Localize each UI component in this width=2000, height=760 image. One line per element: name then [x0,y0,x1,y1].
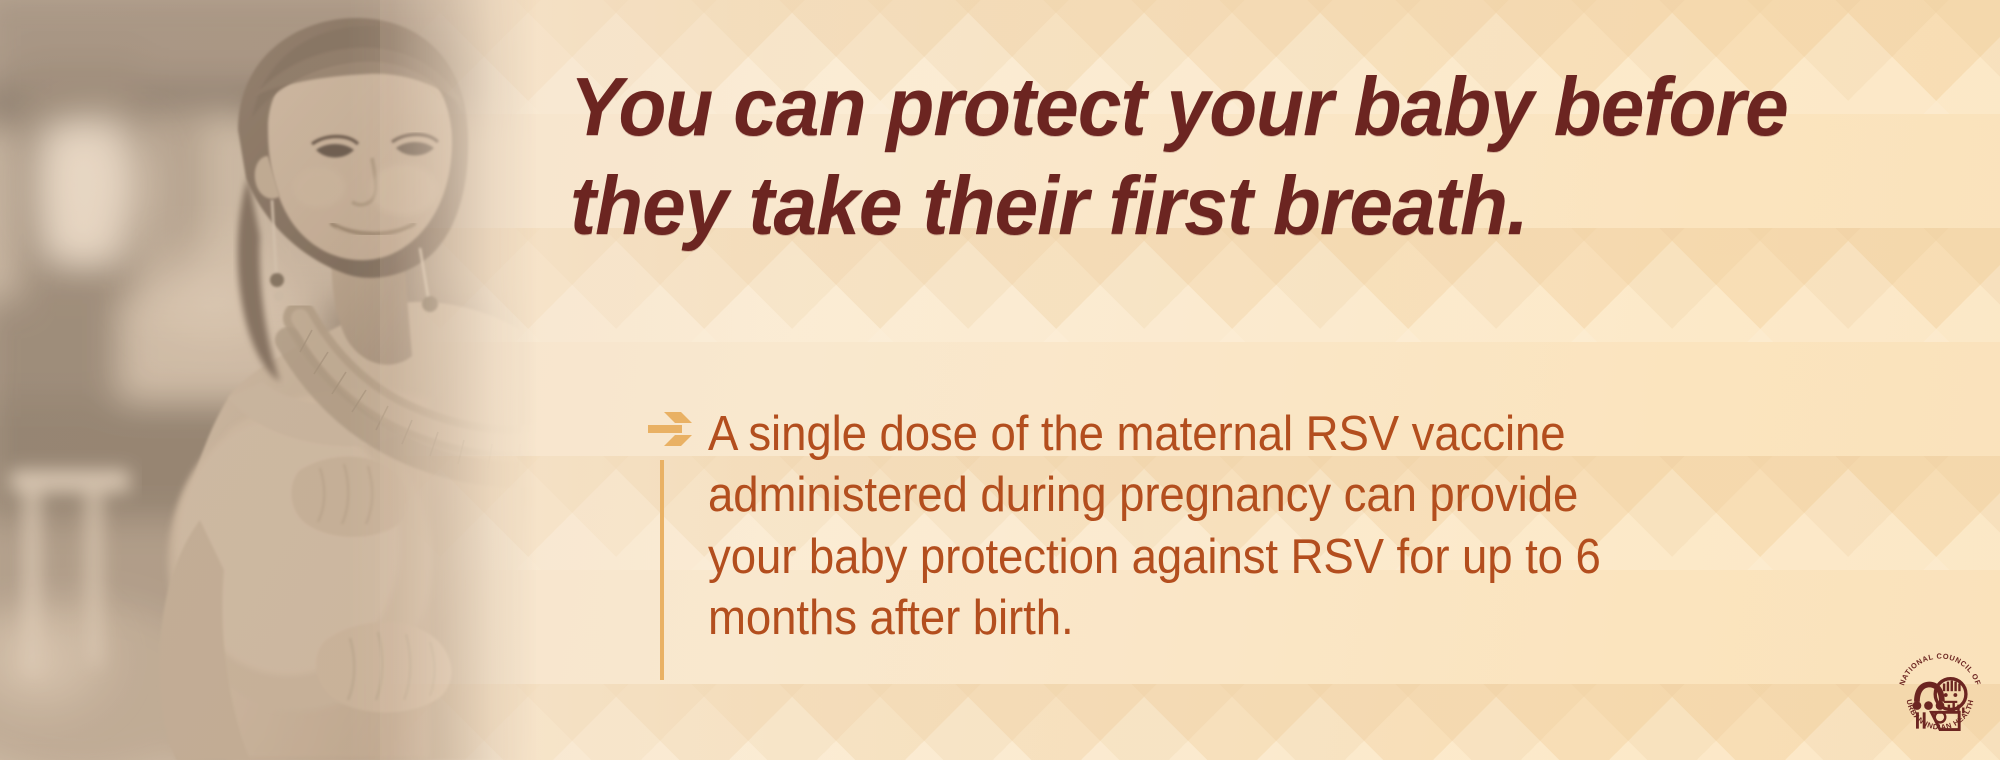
page-title: You can protect your baby before they ta… [570,58,1893,256]
pregnant-woman-photo [0,0,560,760]
ncuih-logo: NATIONAL COUNCIL OF URBAN INDIAN HEALTH [1892,648,1988,744]
bullet-column [648,404,708,446]
rsv-awareness-banner: You can protect your baby before they ta… [0,0,2000,760]
accent-vertical-rule [660,460,664,680]
key-message-text: A single dose of the maternal RSV vaccin… [708,404,1750,650]
photo-illustration [0,0,560,760]
arrow-right-icon [648,412,692,446]
key-message-block: A single dose of the maternal RSV vaccin… [648,404,1828,650]
